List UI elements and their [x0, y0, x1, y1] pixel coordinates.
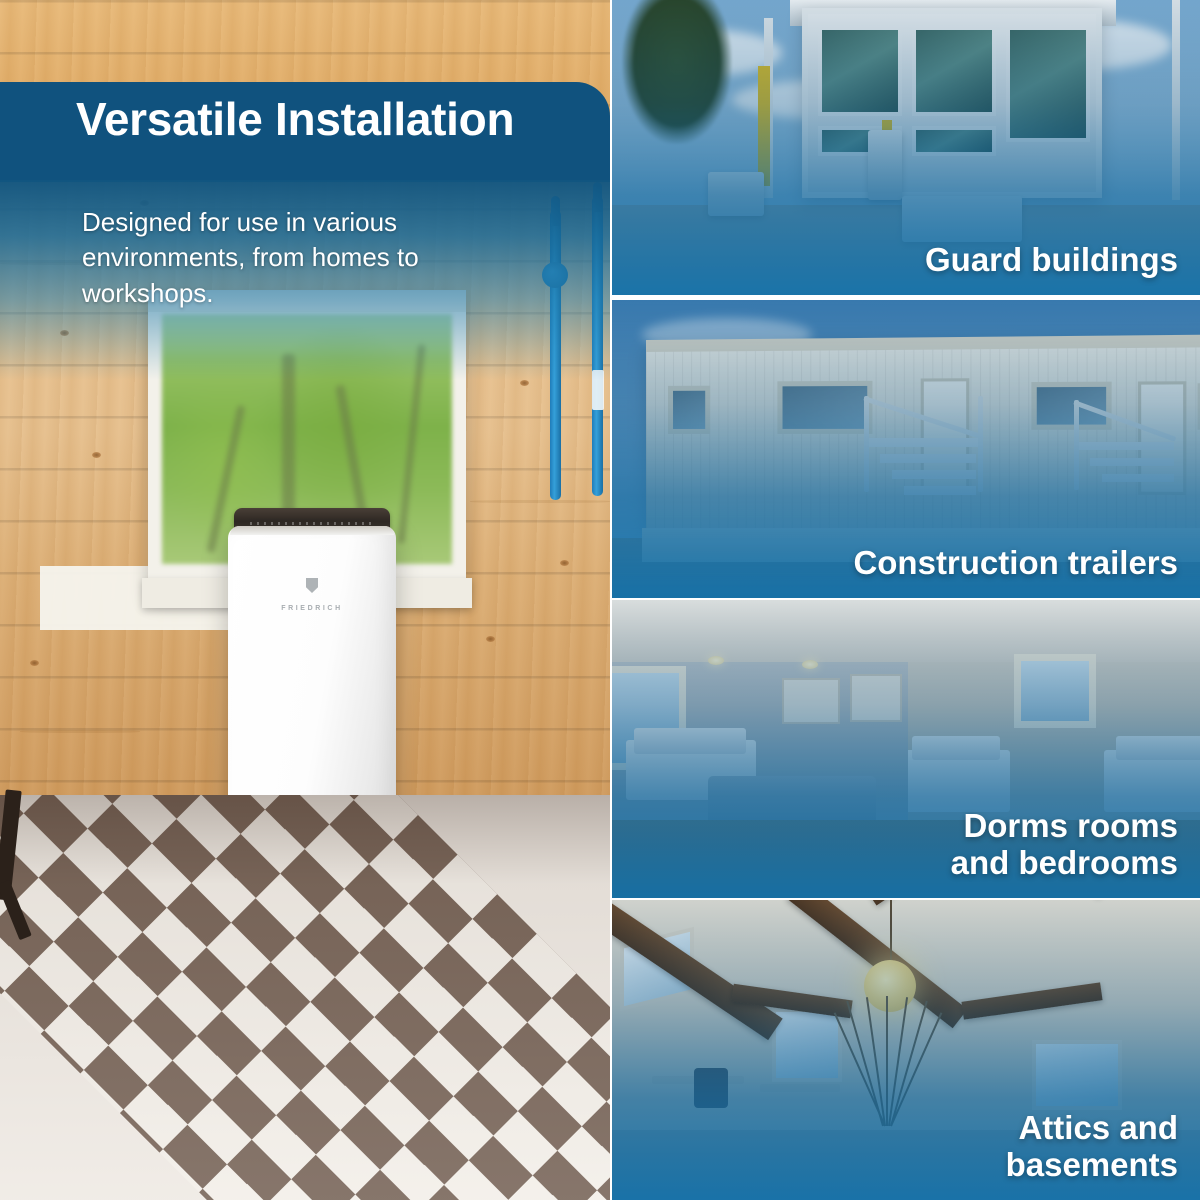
page-subtitle: Designed for use in various environments…: [82, 205, 502, 311]
tile-dorms-bedrooms[interactable]: Dorms rooms and bedrooms: [612, 600, 1200, 898]
tile-attic-caption-line1: Attics and: [1006, 1109, 1178, 1147]
tile-attic-caption: Attics and basements: [1006, 1109, 1178, 1184]
tile-guard-buildings[interactable]: Guard buildings: [612, 0, 1200, 295]
ac-brand-logo: FRIEDRICH: [228, 578, 396, 615]
tile-dorm-caption-line2: and bedrooms: [951, 844, 1178, 882]
checkerboard-floor: [0, 795, 610, 1200]
tile-guard-caption: Guard buildings: [925, 241, 1178, 279]
tile-construction-caption: Construction trailers: [853, 544, 1178, 582]
tile-attic-caption-line2: basements: [1006, 1146, 1178, 1184]
hero-photo-panel: FRIEDRICH Versatile Installation Designe…: [0, 0, 610, 1200]
tile-construction-trailers[interactable]: Construction trailers: [612, 300, 1200, 598]
page-title: Versatile Installation: [76, 96, 610, 142]
tile-dorm-caption: Dorms rooms and bedrooms: [951, 807, 1178, 882]
ac-brand-name: FRIEDRICH: [281, 605, 343, 612]
use-case-grid: Guard buildings: [612, 0, 1200, 1200]
ac-shoulder: [230, 526, 394, 535]
tile-dorm-caption-line1: Dorms rooms: [951, 807, 1178, 845]
friedrich-crest-icon: [306, 578, 318, 593]
marketing-banner: FRIEDRICH Versatile Installation Designe…: [0, 0, 1200, 1200]
tile-attics-basements[interactable]: Attics and basements: [612, 900, 1200, 1200]
